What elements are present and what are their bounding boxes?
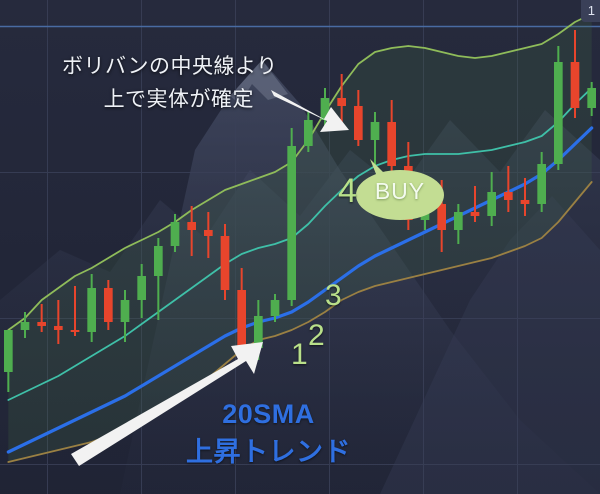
candle-number-1: 1 — [291, 340, 308, 370]
candle-number-2: 2 — [308, 321, 325, 351]
annotation-sma-note: 20SMA 上昇トレンド — [186, 395, 351, 471]
annotation-bollinger-note: ボリバンの中央線より 上で実体が確定 — [62, 50, 278, 116]
candle-number-4: 4 — [338, 174, 357, 208]
annotation-bollinger-note-line2: 上で実体が確定 — [80, 83, 278, 116]
annotation-sma-note-line1: 20SMA — [186, 395, 351, 433]
trading-chart-screenshot: BUY 1 2 3 4 ボリバンの中央線より 上で実体が確定 20SMA 上昇ト… — [0, 0, 600, 494]
buy-signal-label: BUY — [356, 178, 444, 205]
candle-number-3: 3 — [325, 281, 342, 311]
price-badge: 1 — [581, 0, 600, 22]
annotation-sma-note-line2: 上昇トレンド — [186, 433, 351, 471]
annotation-bollinger-note-line1: ボリバンの中央線より — [62, 50, 278, 83]
